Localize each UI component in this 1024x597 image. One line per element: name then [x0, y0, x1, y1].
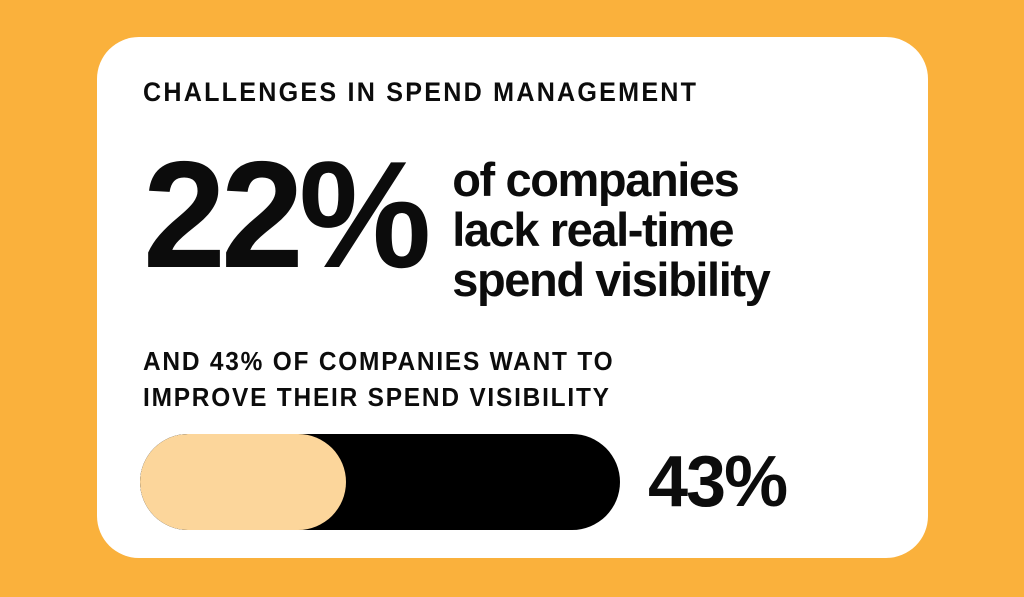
- progress-bar-track: [140, 434, 620, 530]
- primary-stat-line-1: of companies: [452, 155, 769, 205]
- infographic-canvas: CHALLENGES IN SPEND MANAGEMENT 22% of co…: [0, 0, 1024, 597]
- primary-stat-line-3: spend visibility: [452, 255, 769, 305]
- secondary-heading-line-2: IMPROVE THEIR SPEND VISIBILITY: [143, 379, 614, 415]
- primary-stat-row: 22% of companies lack real-time spend vi…: [143, 133, 883, 305]
- secondary-heading-line-1: AND 43% OF COMPANIES WANT TO: [143, 343, 614, 379]
- card-eyebrow-heading: CHALLENGES IN SPEND MANAGEMENT: [143, 77, 698, 107]
- primary-stat-value: 22%: [143, 139, 426, 291]
- primary-stat-description: of companies lack real-time spend visibi…: [452, 155, 769, 305]
- progress-bar-value-label: 43%: [648, 446, 786, 518]
- progress-bar-row: 43%: [140, 434, 786, 530]
- primary-stat-line-2: lack real-time: [452, 205, 769, 255]
- secondary-heading: AND 43% OF COMPANIES WANT TO IMPROVE THE…: [143, 343, 614, 415]
- progress-bar-fill: [140, 434, 346, 530]
- stat-card: CHALLENGES IN SPEND MANAGEMENT 22% of co…: [97, 37, 928, 558]
